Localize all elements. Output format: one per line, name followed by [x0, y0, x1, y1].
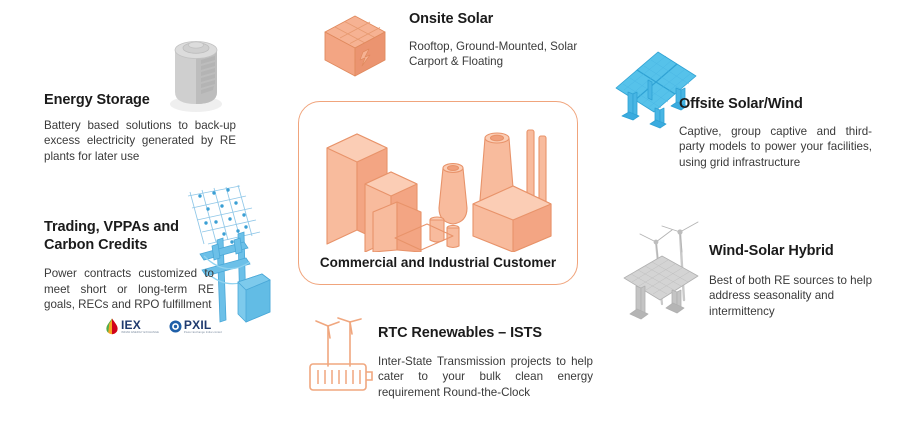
onsite-solar-description: Rooftop, Ground-Mounted, Solar Carport &…	[409, 39, 589, 70]
energy-storage-description: Battery based solutions to back-up exces…	[44, 118, 236, 164]
iex-droplet-icon	[105, 318, 119, 335]
solar-house-icon	[311, 2, 395, 80]
commercial-industrial-customer-box: Commercial and Industrial Customer	[298, 101, 578, 285]
rtc-renewables-description: Inter-State Transmission projects to hel…	[378, 354, 593, 400]
section-trading-vppas: Trading, VPPAs and Carbon Credits Power …	[44, 218, 232, 312]
exchange-logos: IEX INDIAN ENERGY EXCHANGE PXIL Power Ex…	[105, 318, 222, 335]
iex-logo: IEX INDIAN ENERGY EXCHANGE	[105, 318, 159, 335]
offsite-solar-wind-description: Captive, group captive and third-party m…	[679, 124, 872, 170]
section-rtc-renewables: RTC Renewables – ISTS Inter-State Transm…	[378, 325, 603, 400]
wind-solar-hybrid-title: Wind-Solar Hybrid	[709, 243, 904, 259]
rtc-renewables-title: RTC Renewables – ISTS	[378, 325, 603, 341]
center-box-label: Commercial and Industrial Customer	[299, 255, 577, 270]
offsite-solar-wind-title: Offsite Solar/Wind	[679, 96, 879, 112]
pxil-logo-text: PXIL	[184, 319, 222, 331]
pxil-logo: PXIL Power Exchange India Limited	[169, 319, 222, 335]
industrial-city-icon	[313, 112, 565, 252]
section-wind-solar-hybrid: Wind-Solar Hybrid Best of both RE source…	[709, 243, 904, 319]
trading-vppas-title: Trading, VPPAs and Carbon Credits	[44, 218, 194, 254]
onsite-solar-title: Onsite Solar	[409, 11, 609, 27]
trading-vppas-description: Power contracts customized to meet short…	[44, 266, 214, 312]
infographic-canvas: Commercial and Industrial Customer Energ…	[0, 0, 920, 430]
section-energy-storage: Energy Storage Battery based solutions t…	[44, 92, 244, 164]
energy-storage-title: Energy Storage	[44, 92, 244, 108]
section-offsite-solar-wind: Offsite Solar/Wind Captive, group captiv…	[679, 96, 879, 170]
section-onsite-solar: Onsite Solar Rooftop, Ground-Mounted, So…	[409, 11, 609, 70]
wind-solar-hybrid-description: Best of both RE sources to help address …	[709, 273, 879, 319]
wind-battery-icon	[306, 316, 380, 394]
wind-solar-hybrid-icon	[618, 216, 710, 328]
iex-logo-tagline: INDIAN ENERGY EXCHANGE	[121, 332, 159, 335]
pxil-emblem-icon	[169, 320, 182, 333]
pxil-logo-tagline: Power Exchange India Limited	[184, 332, 222, 335]
iex-logo-text: IEX	[121, 319, 159, 331]
